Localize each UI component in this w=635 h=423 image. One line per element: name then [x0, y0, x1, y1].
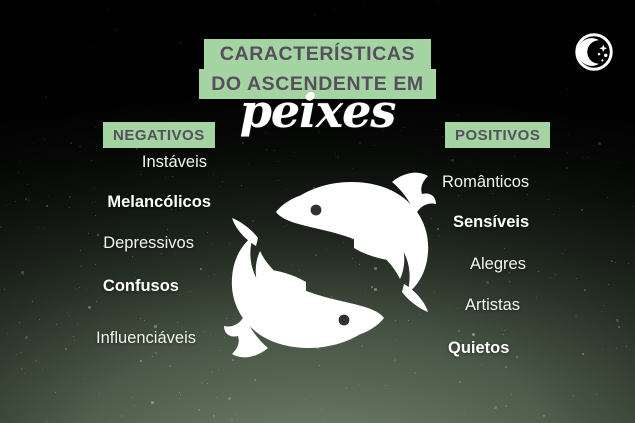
- heading-negativos: NEGATIVOS: [103, 122, 215, 148]
- trait-item: Quietos: [448, 340, 509, 357]
- title-line-1: CARACTERÍSTICAS: [204, 39, 431, 70]
- trait-item: Influenciáveis: [96, 330, 196, 347]
- fish-eye-upper: [311, 205, 322, 216]
- trait-item: Depressivos: [103, 235, 194, 252]
- trait-item: Instáveis: [142, 154, 207, 171]
- trait-item: Artistas: [465, 297, 520, 314]
- trait-item: Melancólicos: [107, 194, 211, 211]
- heading-positivos: POSITIVOS: [445, 122, 550, 148]
- trait-item: Confusos: [103, 278, 179, 295]
- trait-item: Sensíveis: [453, 214, 529, 231]
- trait-item: Românticos: [442, 174, 529, 191]
- fish-eye-lower: [339, 315, 350, 326]
- infographic-canvas: CARACTERÍSTICAS DO ASCENDENTE EM peixes …: [0, 0, 635, 423]
- trait-item: Alegres: [470, 256, 526, 273]
- pisces-two-fish-symbol: [214, 166, 446, 364]
